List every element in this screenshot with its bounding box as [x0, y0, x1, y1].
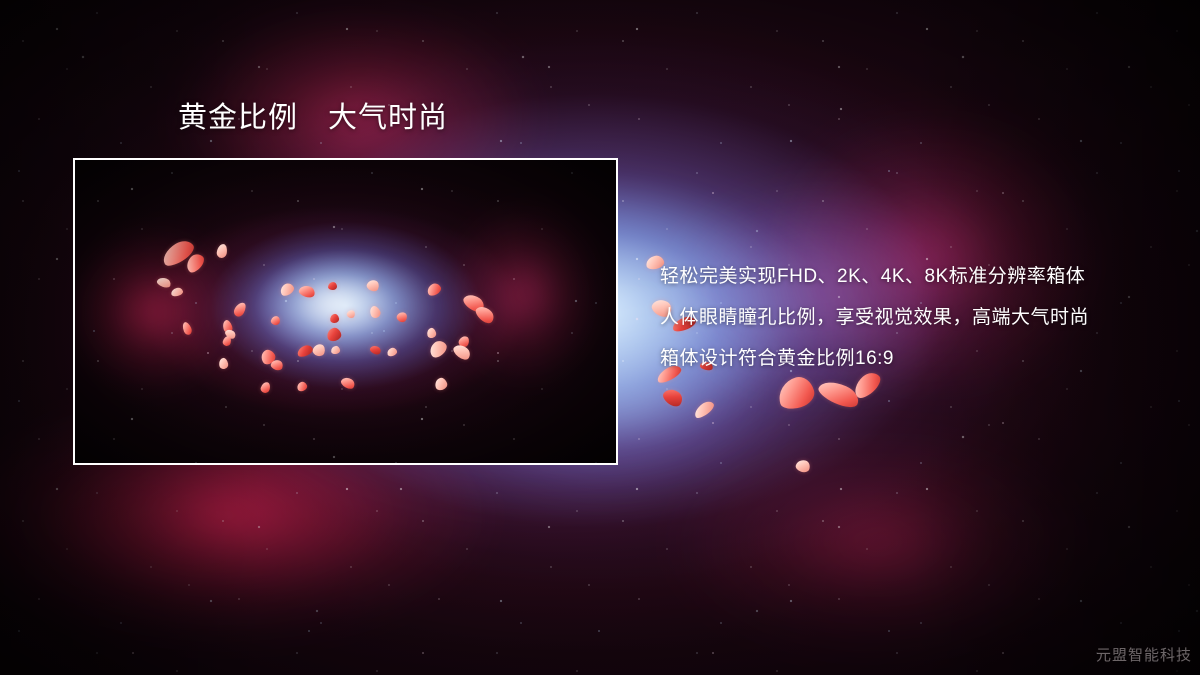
presentation-slide: 黄金比例 大气时尚 轻松完美实现FHD、2K、4K、8K标准分辨率箱体 人体眼睛…: [0, 0, 1200, 675]
body-text-block: 轻松完美实现FHD、2K、4K、8K标准分辨率箱体 人体眼睛瞳孔比例，享受视觉效…: [660, 256, 1130, 379]
panel-vignette-overlay: [75, 160, 616, 463]
page-title: 黄金比例 大气时尚: [178, 102, 448, 135]
body-line-1: 轻松完美实现FHD、2K、4K、8K标准分辨率箱体: [660, 256, 1130, 297]
image-panel-frame: [73, 158, 618, 465]
image-panel-content: [75, 160, 616, 463]
body-line-2: 人体眼睛瞳孔比例，享受视觉效果，高端大气时尚: [660, 297, 1130, 338]
watermark-brand: 元盟智能科技: [1096, 644, 1192, 665]
body-line-3: 箱体设计符合黄金比例16:9: [660, 338, 1130, 379]
